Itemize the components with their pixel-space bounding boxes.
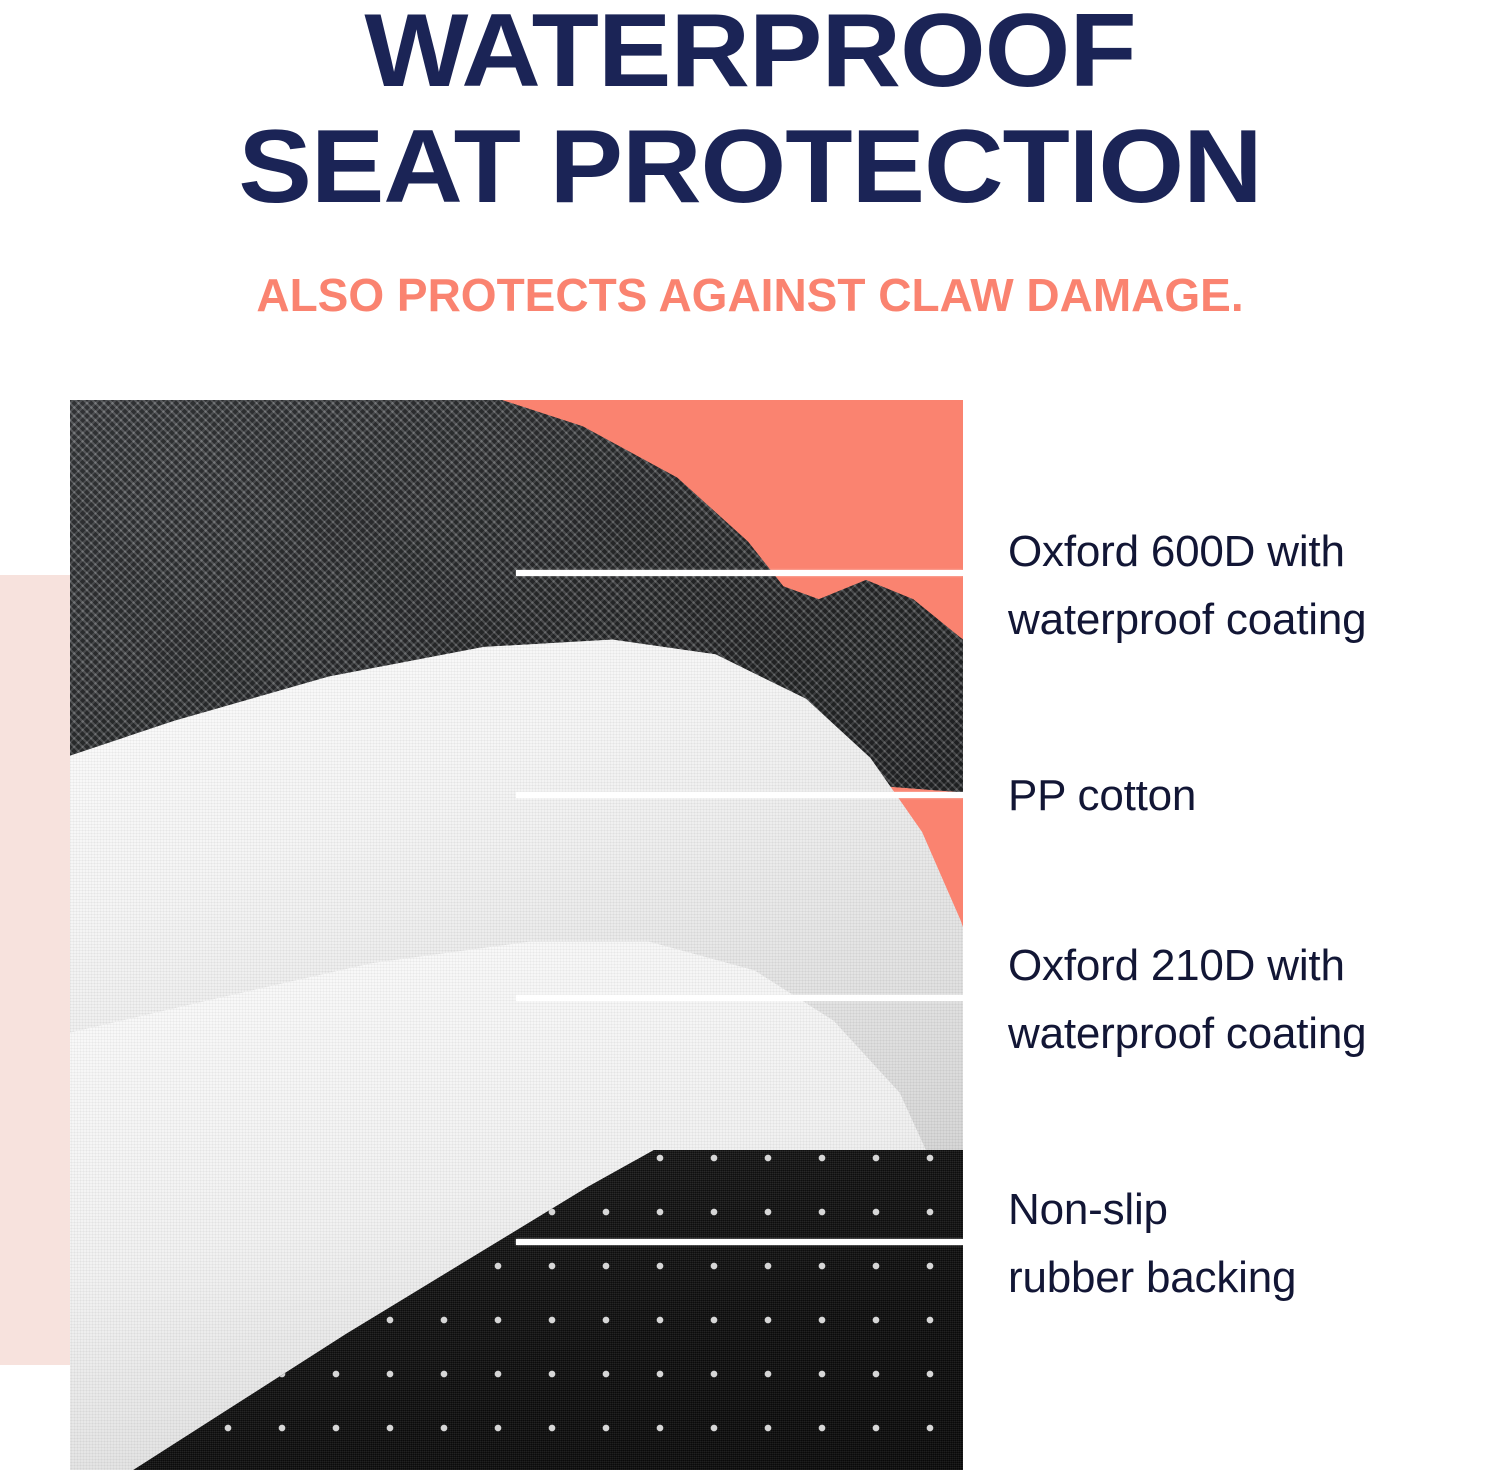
page-title-line-1: WATERPROOF	[0, 2, 1500, 102]
leader-line-pp-cotton	[516, 792, 963, 798]
callout-label-rubber-backing: Non-slip rubber backing	[1008, 1176, 1296, 1312]
accent-strip	[0, 575, 70, 1365]
page-subtitle: ALSO PROTECTS AGAINST CLAW DAMAGE.	[0, 268, 1500, 322]
page-title-line-2: SEAT PROTECTION	[0, 118, 1500, 218]
leader-line-rubber-backing	[516, 1239, 963, 1245]
leader-line-oxford-600d	[516, 570, 963, 576]
callout-label-oxford-600d: Oxford 600D with waterproof coating	[1008, 518, 1366, 654]
callout-label-oxford-210d: Oxford 210D with waterproof coating	[1008, 932, 1366, 1068]
callout-label-pp-cotton: PP cotton	[1008, 762, 1196, 830]
header: WATERPROOF SEAT PROTECTION ALSO PROTECTS…	[0, 0, 1500, 360]
product-layer-figure	[70, 400, 963, 1470]
infographic-page: WATERPROOF SEAT PROTECTION ALSO PROTECTS…	[0, 0, 1500, 1470]
leader-line-oxford-210d	[516, 995, 963, 1001]
